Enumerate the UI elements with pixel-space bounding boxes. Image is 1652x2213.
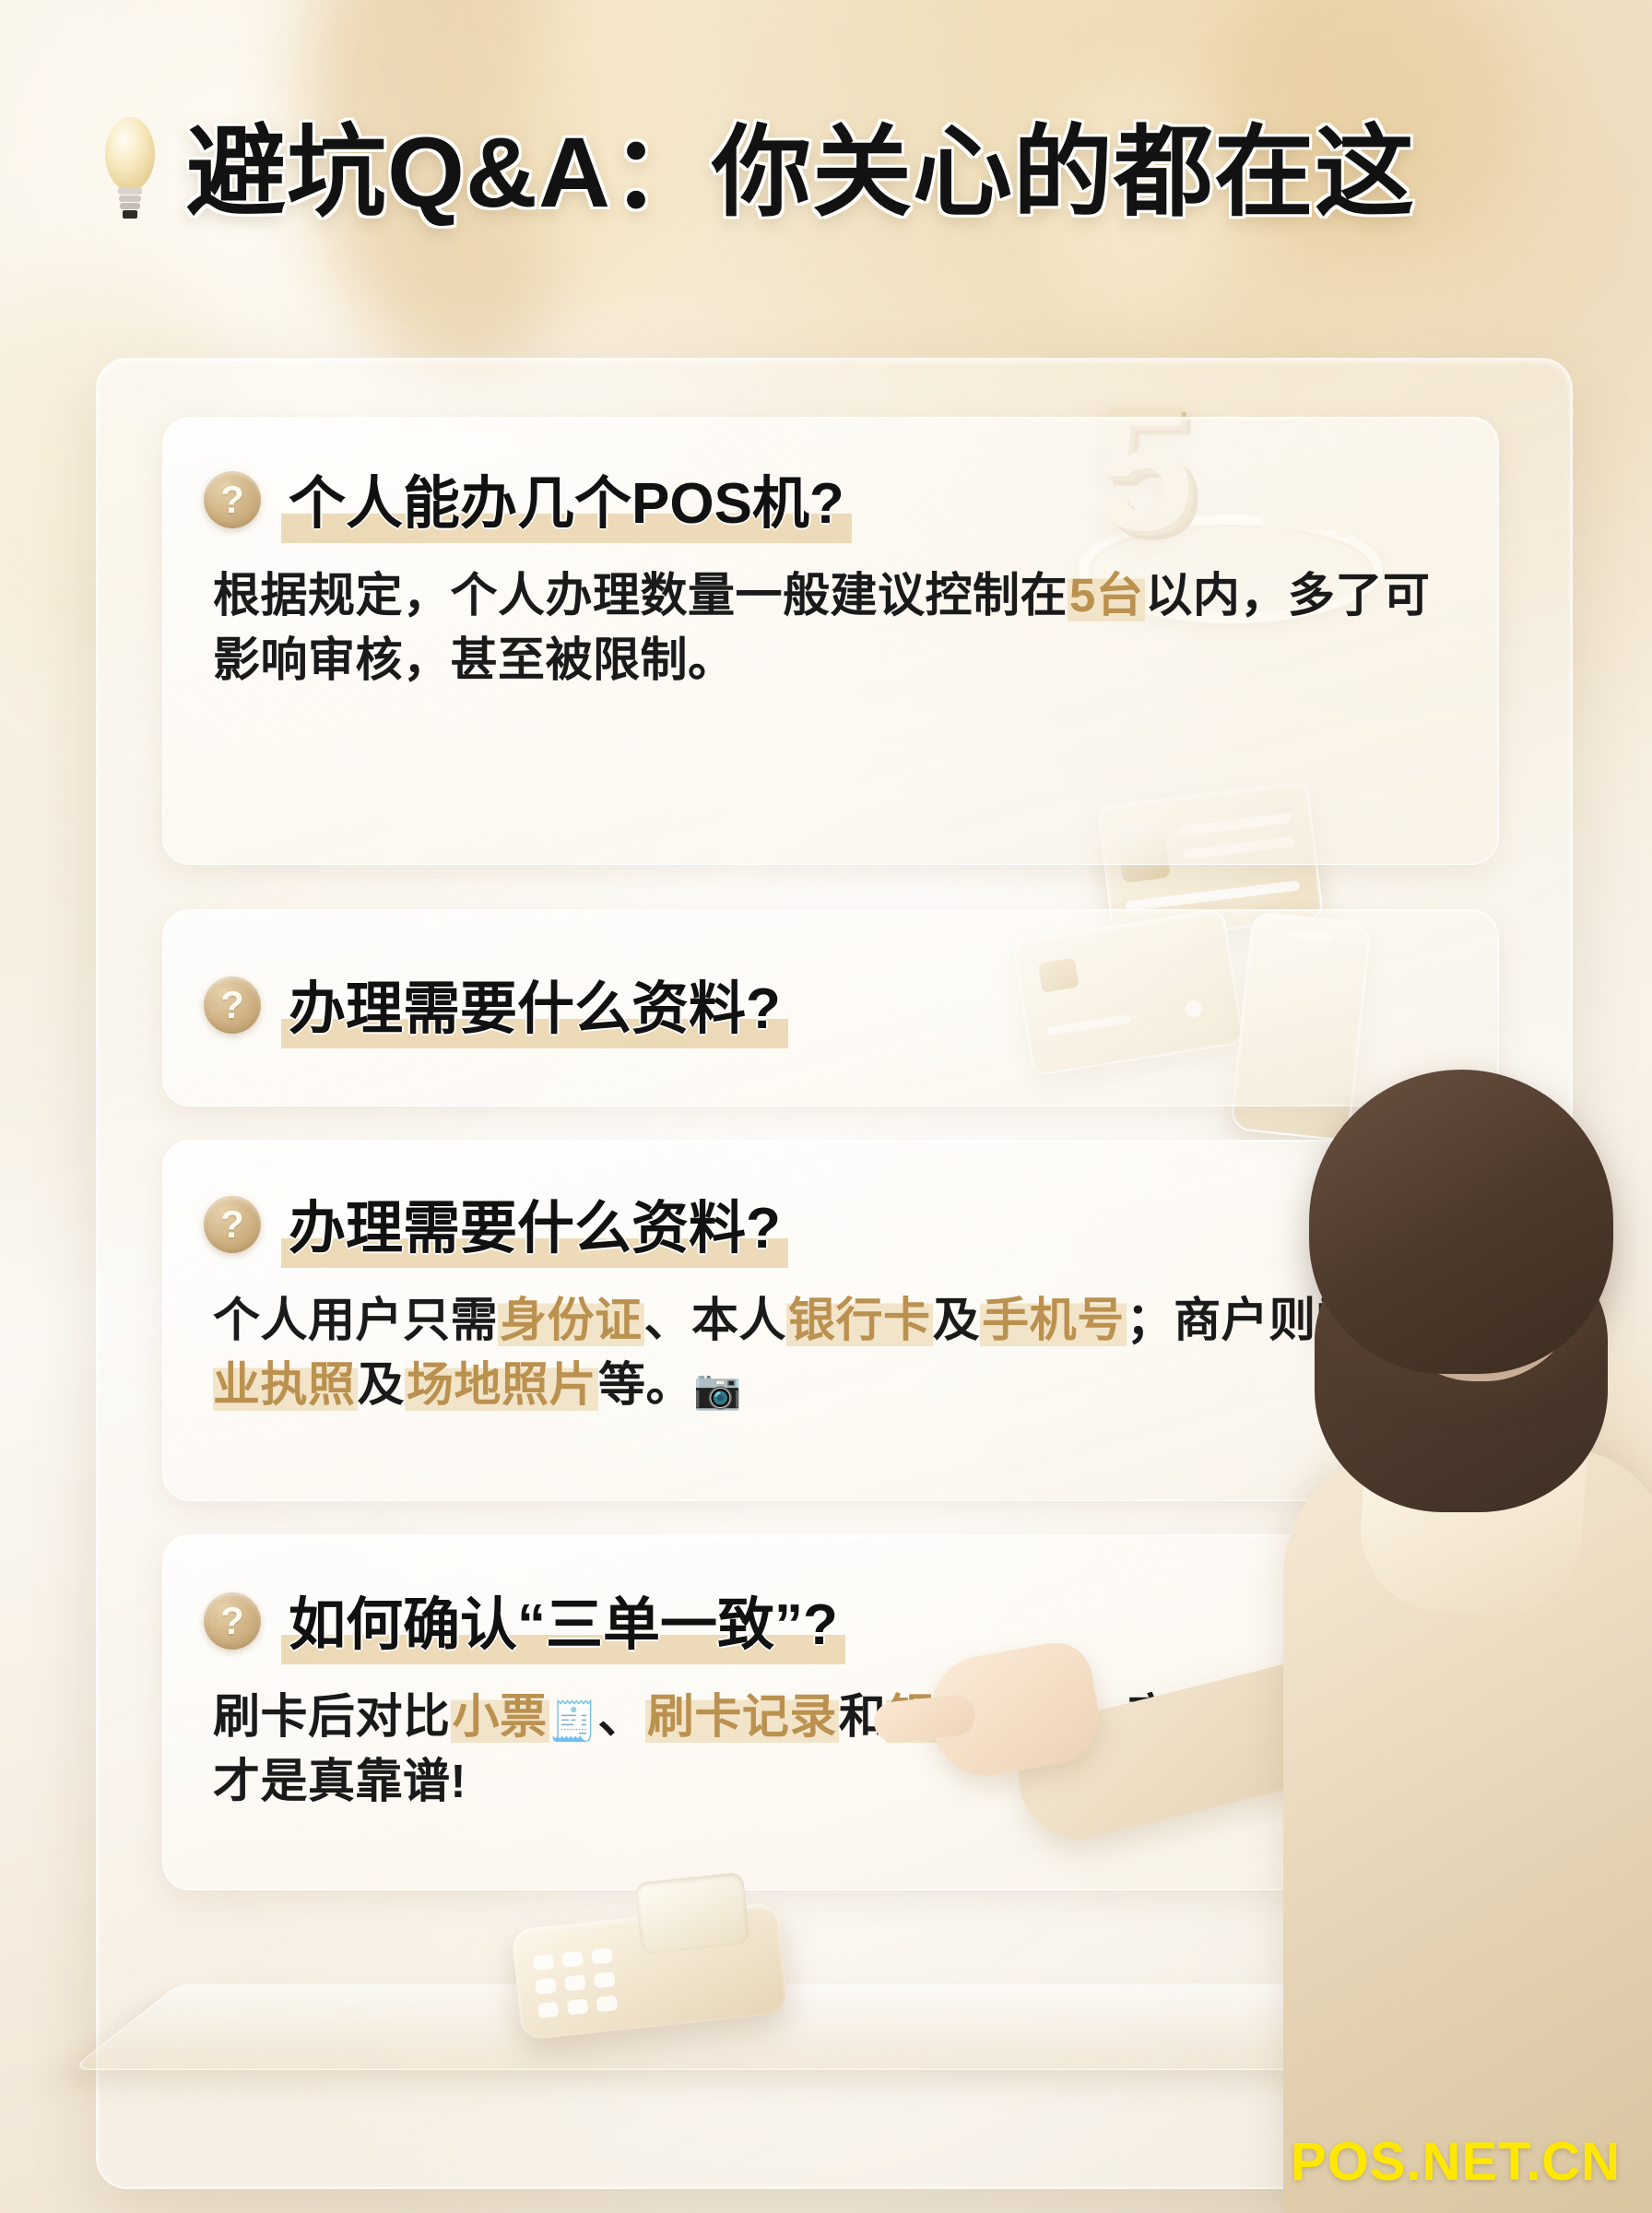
faq-answer-text: 个人用户只需身份证、本人银行卡及手机号；商户则需营业执照及场地照片等。📷 <box>163 1268 1498 1418</box>
faq-card[interactable]: ? 如何确认“三单一致”? 刷卡后对比小票🧾、刷卡记录和银行流水，商户名对得上才… <box>162 1534 1499 1890</box>
faq-question-row: ? 个人能办几个POS机? <box>163 418 1498 543</box>
site-watermark: POS.NET.CN <box>1291 2131 1621 2193</box>
question-mark-icon: ? <box>204 471 261 528</box>
question-mark-icon: ? <box>204 1592 261 1650</box>
glass-base-platform <box>70 1983 1497 2070</box>
faq-question-row: ? 办理需要什么资料? <box>163 910 1498 1048</box>
question-mark-icon: ? <box>204 1196 261 1253</box>
answer-run: 个人用户只需 <box>213 1294 498 1346</box>
answer-run: 和 <box>839 1690 887 1743</box>
highlighted-term: 银行流水 <box>886 1690 1080 1743</box>
page-header: 避坑Q&A：你关心的都在这 <box>96 100 1571 229</box>
faq-question-text: 个人能办几个POS机? <box>281 456 852 543</box>
lightbulb-icon <box>96 110 164 219</box>
faq-answer-text: 刷卡后对比小票🧾、刷卡记录和银行流水，商户名对得上才是真靠谱! <box>163 1664 1498 1815</box>
faq-question-text: 办理需要什么资料? <box>281 962 788 1048</box>
answer-run: 、 <box>597 1690 645 1743</box>
faq-card[interactable]: ? 办理需要什么资料? 个人用户只需身份证、本人银行卡及手机号；商户则需营业执照… <box>162 1140 1499 1501</box>
highlighted-term: 手机号 <box>980 1294 1127 1346</box>
highlighted-term: 刷卡记录 <box>645 1690 839 1743</box>
answer-run: 等。 <box>598 1358 693 1411</box>
answer-run: 及 <box>358 1358 406 1411</box>
answer-run: 及 <box>933 1294 981 1346</box>
faq-answer-text: 根据规定，个人办理数量一般建议控制在5台以内，多了可影响审核，甚至被限制。 <box>163 543 1498 693</box>
highlighted-term: 身份证 <box>498 1294 644 1346</box>
faq-question-text: 如何确认“三单一致”? <box>281 1578 845 1664</box>
answer-run: 刷卡后对比 <box>213 1690 451 1743</box>
highlighted-term: 场地照片 <box>405 1358 598 1411</box>
faq-question-row: ? 如何确认“三单一致”? <box>163 1535 1498 1664</box>
highlighted-term: 5台 <box>1068 569 1145 621</box>
faq-card[interactable]: ? 办理需要什么资料? <box>162 909 1499 1106</box>
inline-emoji-icon: 🧾 <box>549 1699 598 1743</box>
highlighted-term: 小票 <box>451 1690 549 1743</box>
faq-question-row: ? 办理需要什么资料? <box>163 1141 1498 1268</box>
inline-emoji-icon: 📷 <box>693 1367 742 1411</box>
faq-question-text: 办理需要什么资料? <box>281 1181 788 1268</box>
page-title: 避坑Q&A：你关心的都在这 <box>186 92 1415 236</box>
answer-run: ；商户则需 <box>1127 1294 1364 1346</box>
question-mark-icon: ? <box>204 976 261 1034</box>
answer-run: 根据规定，个人办理数量一般建议控制在 <box>213 569 1068 621</box>
faq-card[interactable]: ? 个人能办几个POS机? 根据规定，个人办理数量一般建议控制在5台以内，多了可… <box>162 417 1499 865</box>
answer-run: 、本人 <box>644 1294 787 1346</box>
highlighted-term: 银行卡 <box>786 1294 933 1346</box>
